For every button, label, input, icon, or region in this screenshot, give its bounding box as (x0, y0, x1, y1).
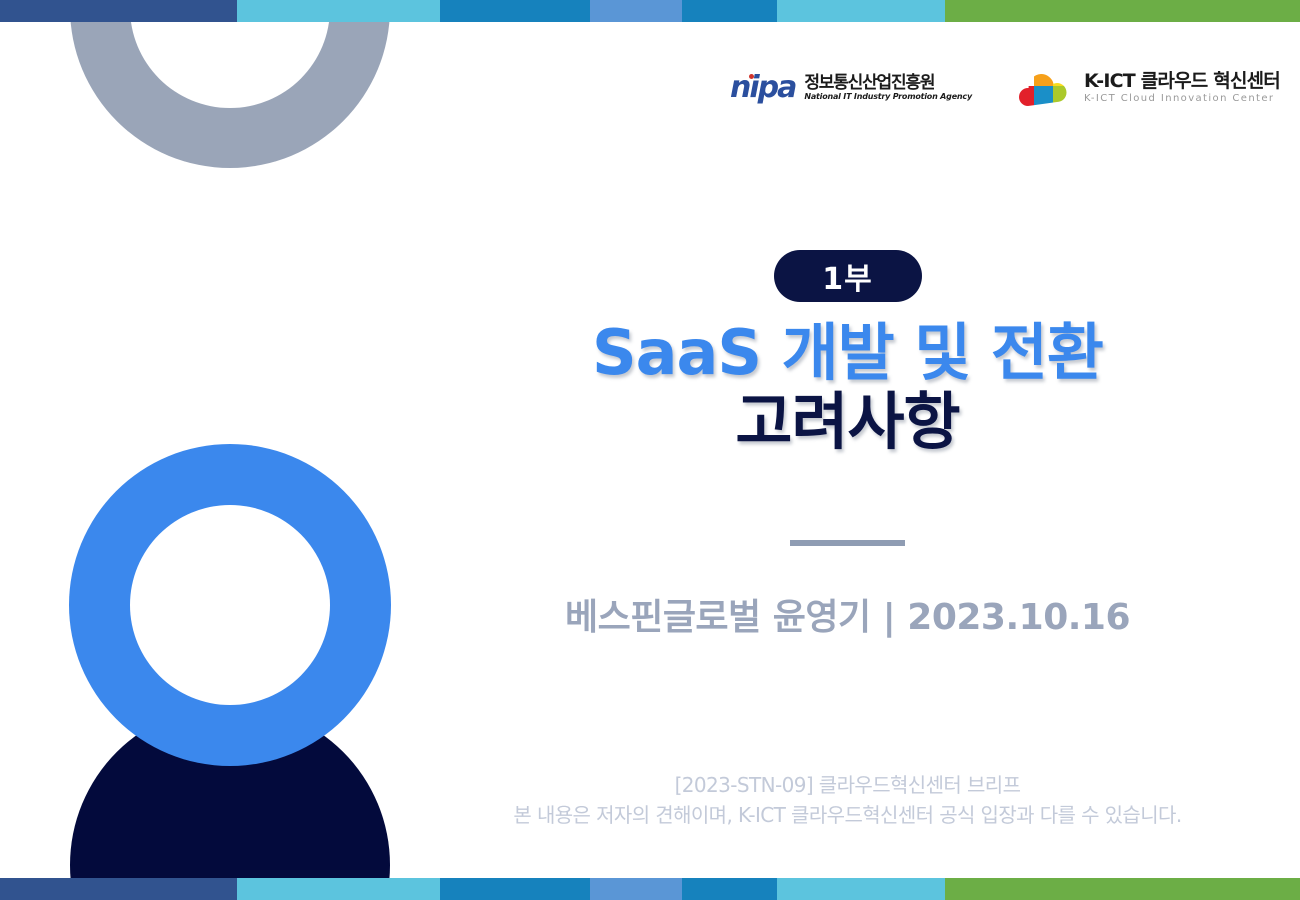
cloud-block-yellow (1053, 68, 1074, 86)
segment-blue-1 (440, 878, 590, 900)
logo-row: nipa 정보통신산업진흥원 National IT Industry Prom… (730, 68, 1280, 108)
kict-english-name: K-ICT Cloud Innovation Center (1084, 94, 1280, 104)
cloud-block-white-gap (1018, 68, 1034, 86)
presenter-and-date: 베스핀글로벌 윤영기 | 2023.10.16 (565, 588, 1130, 640)
segment-dark-blue (0, 0, 237, 22)
kict-logo-text: K-ICT 클라우드 혁신센터 K-ICT Cloud Innovation C… (1084, 72, 1280, 104)
segment-cyan-1 (237, 0, 440, 22)
title-line-1: SaaS 개발 및 전환 (592, 318, 1103, 387)
presentation-slide: nipa 정보통신산업진흥원 National IT Industry Prom… (0, 0, 1300, 900)
nipa-logo: nipa 정보통신산업진흥원 National IT Industry Prom… (730, 73, 972, 103)
segment-cyan-2 (777, 878, 945, 900)
segment-blue-1 (440, 0, 590, 22)
part-badge: 1부 (774, 250, 922, 302)
cloud-block-orange (1034, 68, 1053, 86)
slide-content: 1부 SaaS 개발 및 전환 고려사항 베스핀글로벌 윤영기 | 2023.1… (395, 0, 1300, 900)
top-color-bar (0, 0, 1300, 22)
segment-blue-2 (682, 878, 777, 900)
segment-cyan-2 (777, 0, 945, 22)
cloud-block-blue (1034, 86, 1053, 108)
kict-logo: K-ICT 클라우드 혁신센터 K-ICT Cloud Innovation C… (1018, 68, 1280, 108)
nipa-logo-text: 정보통신산업진흥원 National IT Industry Promotion… (804, 75, 972, 102)
slide-title: SaaS 개발 및 전환 고려사항 (592, 318, 1103, 457)
footer-line-1: [2023-STN-09] 클라우드혁신센터 브리프 (513, 770, 1181, 800)
slide-footer: [2023-STN-09] 클라우드혁신센터 브리프 본 내용은 저자의 견해이… (513, 770, 1181, 830)
title-line-2: 고려사항 (592, 387, 1103, 456)
kict-korean-name: K-ICT 클라우드 혁신센터 (1084, 72, 1280, 92)
segment-dark-blue (0, 878, 237, 900)
bottom-color-bar (0, 878, 1300, 900)
segment-green (945, 0, 1300, 22)
segment-cyan-1 (237, 878, 440, 900)
nipa-wordmark-icon: nipa (730, 73, 795, 103)
segment-blue-2 (682, 0, 777, 22)
segment-steel-blue (590, 0, 682, 22)
cloud-block-green (1053, 86, 1074, 108)
nipa-english-name: National IT Industry Promotion Agency (804, 93, 972, 101)
cloud-blocks-icon (1018, 68, 1074, 108)
segment-green (945, 878, 1300, 900)
footer-line-2: 본 내용은 저자의 견해이며, K-ICT 클라우드혁신센터 공식 입장과 다를… (513, 800, 1181, 830)
title-divider (790, 540, 905, 546)
segment-steel-blue (590, 878, 682, 900)
nipa-korean-name: 정보통신산업진흥원 (804, 75, 972, 93)
cloud-block-red (1018, 86, 1034, 108)
